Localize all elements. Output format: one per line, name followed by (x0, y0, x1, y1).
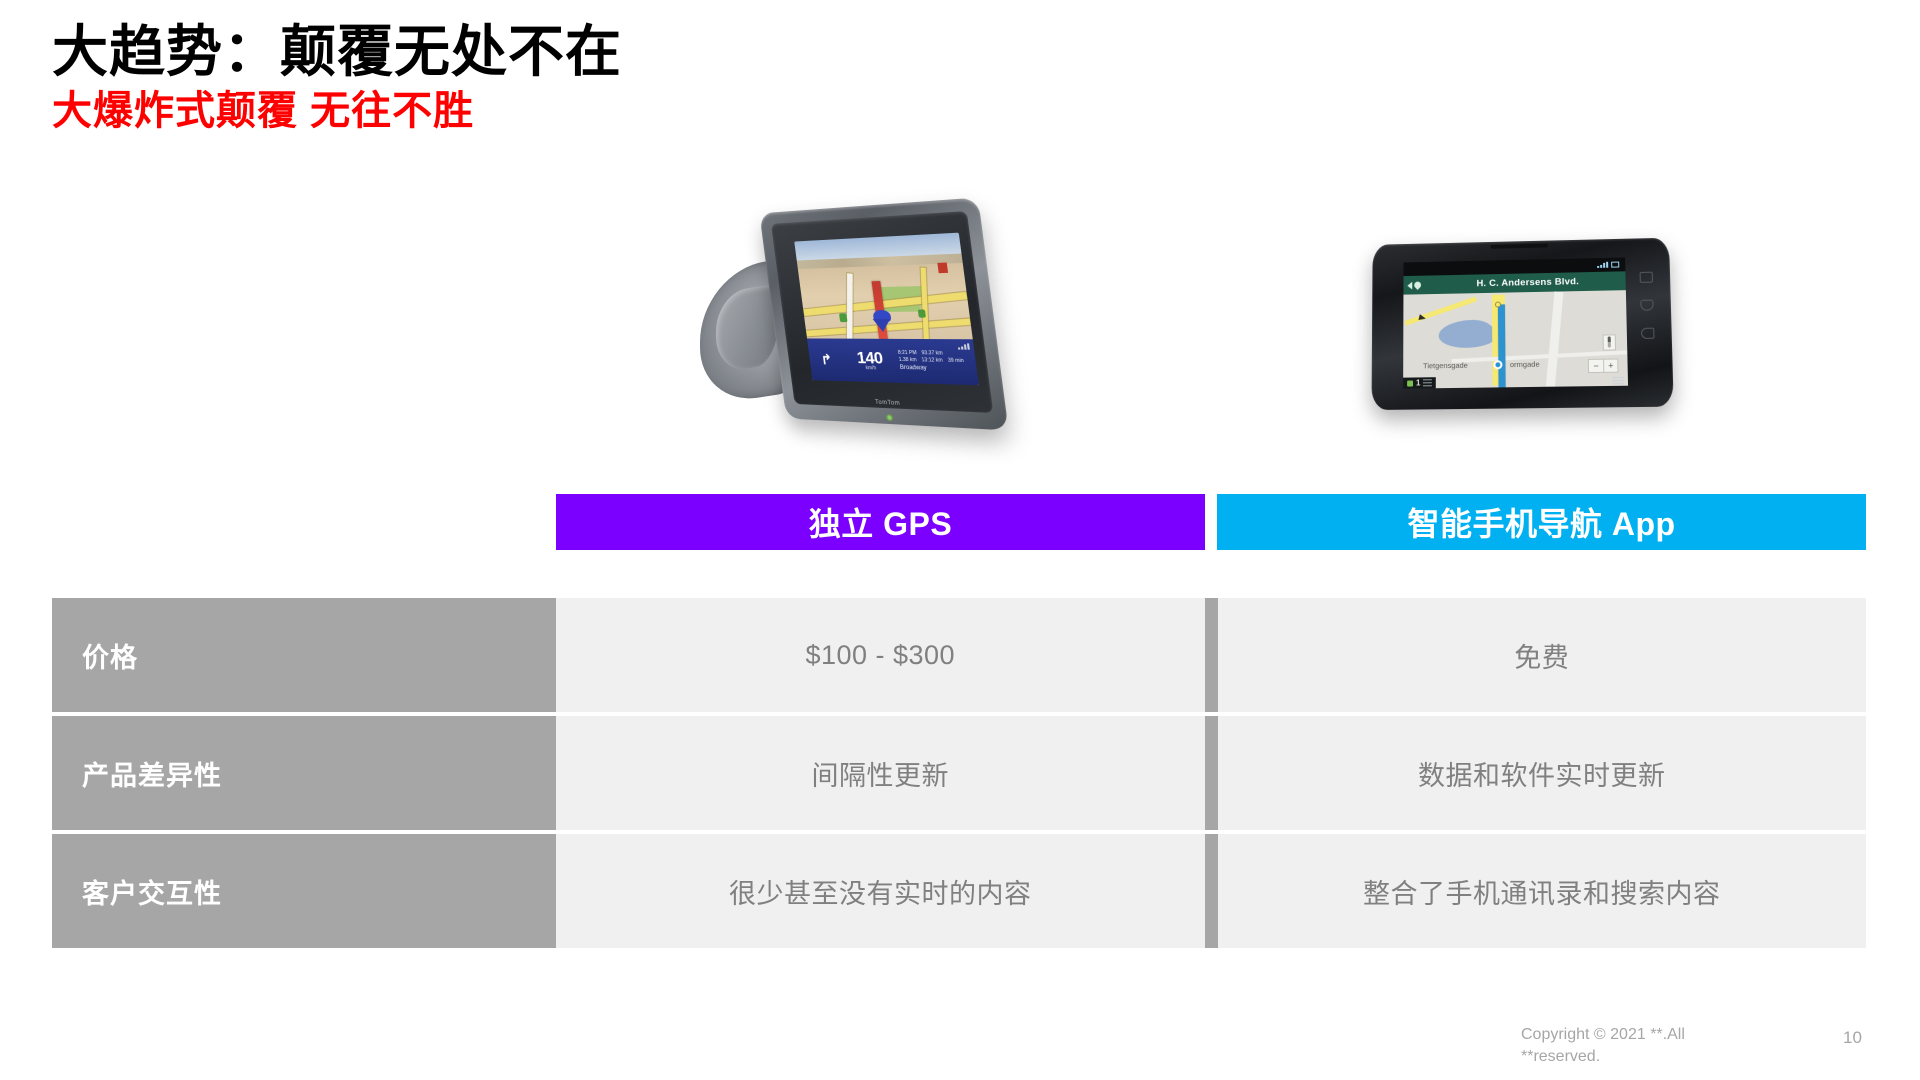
gps-brand-label: TomTom (875, 400, 901, 407)
gps-map-poi-icon (839, 313, 848, 322)
phone-body: H. C. Andersens Blvd. 200 m (1371, 238, 1673, 410)
map-pin-icon (1413, 280, 1423, 290)
column-header-standalone-gps: 独立 GPS (556, 494, 1205, 550)
nav-speed-badge: 1 (1403, 377, 1436, 388)
zoom-controls[interactable]: − + (1588, 359, 1619, 374)
compass-button[interactable] (1602, 334, 1616, 350)
gps-speed-readout: 140 km/h (841, 339, 900, 383)
gps-speed-unit: km/h (866, 366, 877, 371)
column-divider (1205, 716, 1218, 830)
comparison-table: 独立 GPS 智能手机导航 App 价格 $100 - $300 免费 产品差异… (52, 494, 1866, 952)
gps-current-street: Broadway (900, 364, 975, 374)
page-title: 大趋势：颠覆无处不在 (52, 22, 622, 82)
table-row: 客户交互性 很少甚至没有实时的内容 整合了手机通讯录和搜索内容 (52, 834, 1866, 948)
layers-icon (1423, 379, 1432, 386)
column-divider (1205, 834, 1218, 948)
cell-differentiation-gps: 间隔性更新 (556, 716, 1205, 830)
recent-apps-button[interactable] (1639, 272, 1652, 283)
gps-trip-time: 13:12 km (921, 357, 943, 364)
compass-needle-icon (1607, 337, 1610, 348)
row-label-differentiation: 产品差异性 (52, 716, 556, 830)
map-destination-dot (1495, 301, 1501, 307)
turn-arrow-icon: ↱ (807, 339, 846, 382)
gps-map-poi-icon (937, 262, 948, 273)
map-street-label: ormgade (1510, 360, 1540, 369)
smartphone-navigation-image: H. C. Andersens Blvd. 200 m (1370, 240, 1670, 415)
page-number: 10 (1843, 1028, 1862, 1048)
nav-map-canvas[interactable]: Tietgensgade ormgade − + 1 (1403, 290, 1628, 388)
zoom-out-button[interactable]: − (1589, 360, 1603, 372)
device-illustrations: ↱ 140 km/h 8:21 PM 93.37 km (0, 195, 1920, 465)
map-water-body (1439, 319, 1497, 348)
page-subtitle: 大爆炸式颠覆 无往不胜 (52, 88, 622, 134)
chevron-left-icon (1407, 281, 1412, 289)
gps-status-bar: ↱ 140 km/h 8:21 PM 93.37 km (807, 339, 979, 386)
nav-street-name: H. C. Andersens Blvd. (1441, 275, 1626, 290)
battery-icon (1611, 262, 1619, 268)
copyright-notice: Copyright © 2021 **.All **reserved. (1521, 1024, 1751, 1067)
gps-screen: ↱ 140 km/h 8:21 PM 93.37 km (794, 233, 979, 386)
row-label-interactivity: 客户交互性 (52, 834, 556, 948)
gps-trip-info: 8:21 PM 93.37 km 1.38 km 13:12 km 39 min… (894, 339, 979, 385)
gps-power-led-icon (886, 414, 894, 421)
cellular-signal-icon (1597, 262, 1608, 268)
gps-bezel: ↱ 140 km/h 8:21 PM 93.37 km (771, 211, 993, 413)
back-button[interactable] (1403, 281, 1440, 290)
home-button[interactable] (1640, 300, 1653, 311)
map-street-label: Tietgensgade (1423, 361, 1468, 371)
title-block: 大趋势：颠覆无处不在 大爆炸式颠覆 无往不胜 (52, 22, 622, 134)
gps-map-poi-icon (917, 309, 925, 317)
gps-speed-value: 140 (856, 350, 884, 367)
column-header-smartphone-app: 智能手机导航 App (1217, 494, 1866, 550)
phone-soft-keys[interactable] (1634, 272, 1661, 357)
table-body: 价格 $100 - $300 免费 产品差异性 间隔性更新 数据和软件实时更新 … (52, 598, 1866, 948)
gps-remaining-distance: 1.38 km (898, 356, 917, 363)
cell-price-app: 免费 (1218, 598, 1867, 712)
phone-speaker-icon (1491, 244, 1548, 249)
table-row: 产品差异性 间隔性更新 数据和软件实时更新 (52, 716, 1866, 830)
zoom-in-button[interactable]: + (1603, 360, 1617, 372)
row-label-price: 价格 (52, 598, 556, 712)
cell-differentiation-app: 数据和软件实时更新 (1218, 716, 1867, 830)
menu-icon[interactable] (1612, 377, 1623, 385)
map-road (1546, 292, 1564, 387)
gps-device-body: ↱ 140 km/h 8:21 PM 93.37 km (759, 197, 1008, 430)
nav-speed-value: 1 (1416, 378, 1420, 387)
table-row: 价格 $100 - $300 免费 (52, 598, 1866, 712)
gps-trip-extra: 39 min (948, 357, 965, 364)
gps-direction-arrow-icon (873, 319, 892, 332)
phone-screen: H. C. Andersens Blvd. 200 m (1403, 257, 1628, 388)
gps-lock-icon (1407, 380, 1413, 386)
cell-price-gps: $100 - $300 (556, 598, 1205, 712)
gps-map-road (846, 273, 852, 347)
back-soft-button[interactable] (1640, 328, 1654, 339)
cell-interactivity-gps: 很少甚至没有实时的内容 (556, 834, 1205, 948)
column-divider (1205, 598, 1218, 712)
standalone-gps-image: ↱ 140 km/h 8:21 PM 93.37 km (700, 205, 1000, 450)
map-route-line (1498, 304, 1506, 387)
gps-signal-icon (957, 343, 970, 350)
slide-canvas: 大趋势：颠覆无处不在 大爆炸式颠覆 无往不胜 (0, 0, 1920, 1080)
table-header-row: 独立 GPS 智能手机导航 App (556, 494, 1866, 550)
cell-interactivity-app: 整合了手机通讯录和搜索内容 (1218, 834, 1867, 948)
